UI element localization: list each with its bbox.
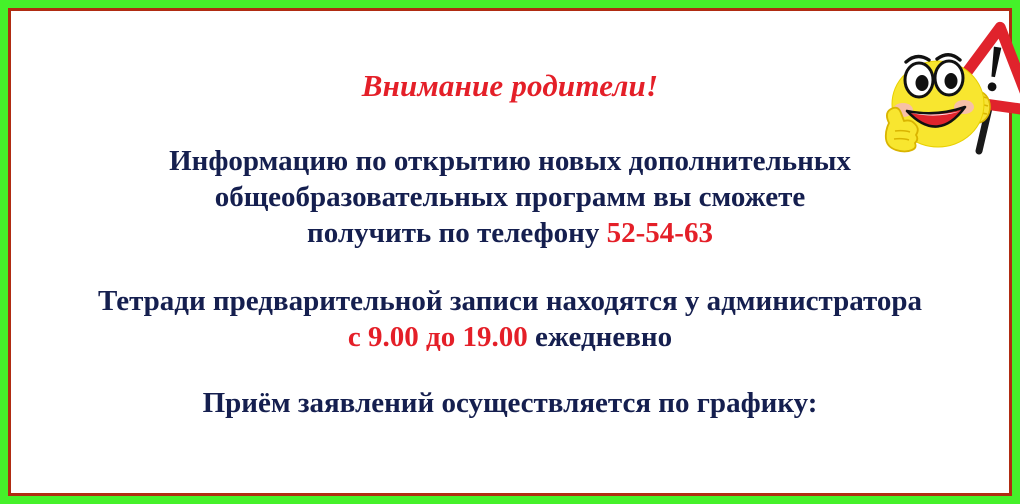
phone-label: получить по телефону (307, 217, 607, 249)
paragraph-registration: Тетради предварительной записи находятся… (11, 283, 1009, 355)
registration-line-1: Тетради предварительной записи находятся… (11, 283, 1009, 319)
left-eyebrow (906, 56, 929, 62)
left-blush (893, 103, 913, 117)
paragraph-info: Информацию по открытию новых дополнитель… (11, 143, 1009, 251)
info-line-3: получить по телефону 52-54-63 (11, 215, 1009, 251)
announcement-poster: Внимание родители! Информацию по открыти… (0, 0, 1020, 504)
right-eyebrow (937, 55, 960, 60)
smile-mouth (907, 107, 965, 127)
poster-content: Внимание родители! Информацию по открыти… (11, 11, 1009, 493)
info-line-1: Информацию по открытию новых дополнитель… (11, 143, 1009, 179)
info-line-2: общеобразовательных программ вы сможете (11, 179, 1009, 215)
schedule-line-1: Приём заявлений осуществляется по график… (11, 385, 1009, 421)
page-title: Внимание родители! (11, 68, 1009, 104)
opening-hours: с 9.00 до 19.00 (348, 321, 528, 353)
paragraph-schedule: Приём заявлений осуществляется по график… (11, 385, 1009, 421)
opening-hours-frequency: ежедневно (528, 321, 672, 353)
phone-number: 52-54-63 (607, 217, 713, 249)
poster-inner-frame: Внимание родители! Информацию по открыти… (8, 8, 1012, 496)
registration-line-2: с 9.00 до 19.00 ежедневно (11, 319, 1009, 355)
